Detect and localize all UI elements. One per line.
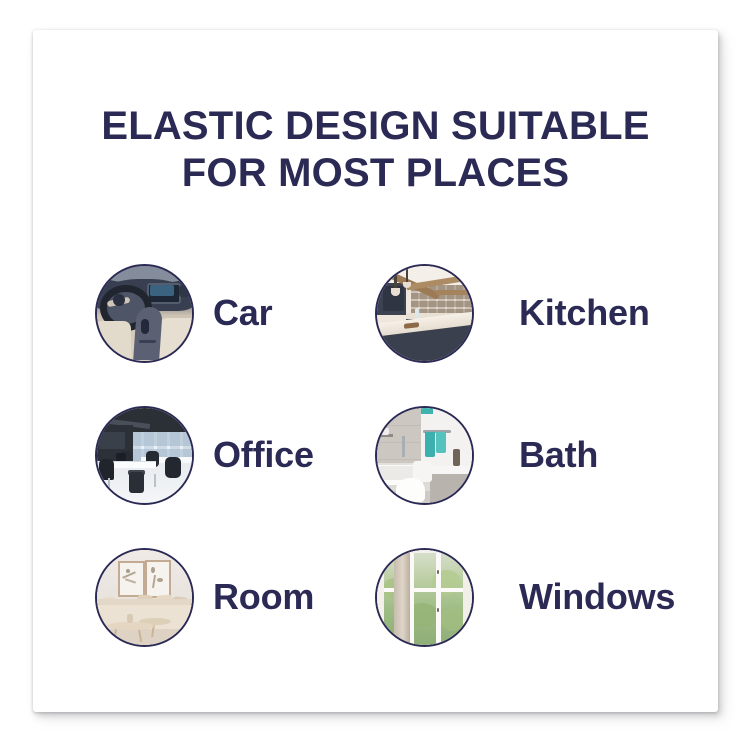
place-label-windows: Windows xyxy=(519,579,675,615)
car-scene xyxy=(97,266,192,361)
windows-scene xyxy=(377,550,472,645)
kitchen-photo-icon xyxy=(375,264,474,363)
living-room-photo-icon xyxy=(95,548,194,647)
place-label-bath: Bath xyxy=(519,437,598,473)
place-label-car: Car xyxy=(213,295,272,331)
places-row: Car Kitchen xyxy=(33,242,718,384)
room-scene xyxy=(97,550,192,645)
places-grid: Car Kitchen xyxy=(33,242,718,668)
product-infographic: ELASTIC DESIGN SUITABLE FOR MOST PLACES … xyxy=(0,0,750,750)
place-label-kitchen: Kitchen xyxy=(519,295,650,331)
office-scene xyxy=(97,408,192,503)
place-tile-bath: Bath xyxy=(375,384,695,526)
place-tile-office: Office xyxy=(95,384,370,526)
window-photo-icon xyxy=(375,548,474,647)
bathroom-photo-icon xyxy=(375,406,474,505)
office-photo-icon xyxy=(95,406,194,505)
place-tile-car: Car xyxy=(95,242,370,384)
places-row: Room Windows xyxy=(33,526,718,668)
place-label-room: Room xyxy=(213,579,314,615)
bath-scene xyxy=(377,408,472,503)
place-label-office: Office xyxy=(213,437,314,473)
place-tile-room: Room xyxy=(95,526,370,668)
places-row: Office Bath xyxy=(33,384,718,526)
white-card: ELASTIC DESIGN SUITABLE FOR MOST PLACES … xyxy=(33,30,718,712)
place-tile-kitchen: Kitchen xyxy=(375,242,695,384)
page-title: ELASTIC DESIGN SUITABLE FOR MOST PLACES xyxy=(33,103,718,197)
place-tile-windows: Windows xyxy=(375,526,695,668)
car-interior-photo-icon xyxy=(95,264,194,363)
kitchen-scene xyxy=(377,266,472,361)
